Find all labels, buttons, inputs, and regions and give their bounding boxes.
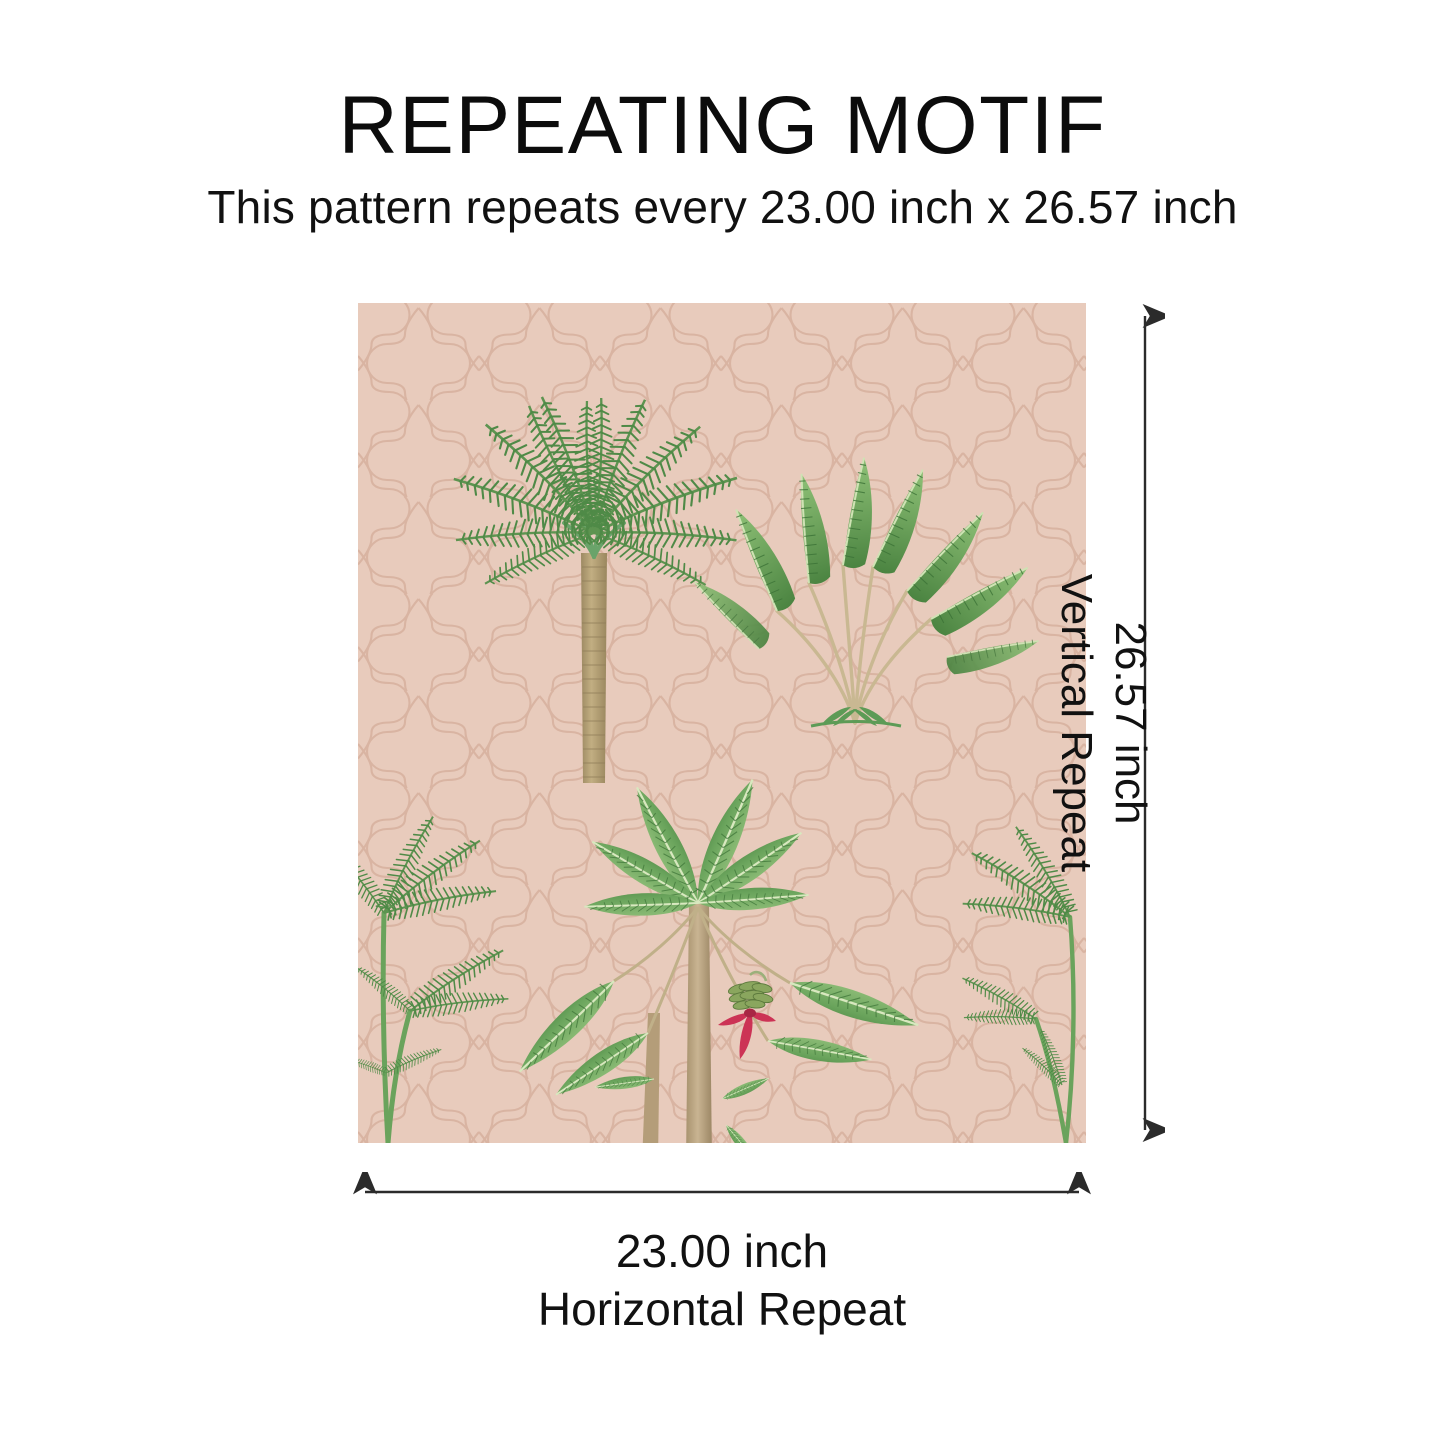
pattern-swatch-panel: [358, 303, 1086, 1143]
wallpaper-pattern-image: [358, 303, 1086, 1143]
vertical-dimension-arrow: [1125, 303, 1165, 1143]
page-title: REPEATING MOTIF: [0, 80, 1445, 172]
repeating-motif-page: REPEATING MOTIF This pattern repeats eve…: [0, 0, 1445, 1445]
horizontal-repeat-caption: Horizontal Repeat: [358, 1280, 1086, 1338]
horizontal-dimension-arrow: [352, 1172, 1092, 1212]
horizontal-repeat-value: 23.00 inch: [358, 1222, 1086, 1280]
horizontal-repeat-label: 23.00 inch Horizontal Repeat: [358, 1222, 1086, 1338]
page-subtitle: This pattern repeats every 23.00 inch x …: [0, 178, 1445, 236]
